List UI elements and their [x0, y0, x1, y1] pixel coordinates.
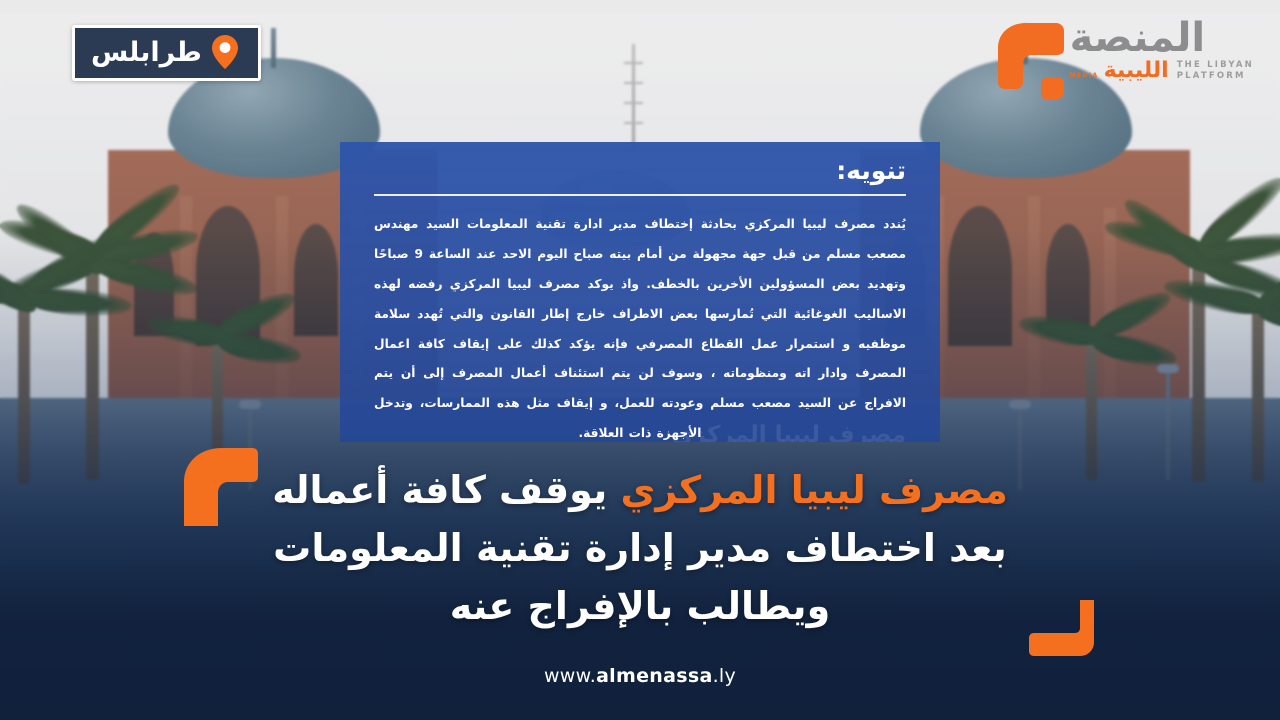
headline-line-2: بعد اختطاف مدير إدارة تقنية المعلومات	[0, 520, 1280, 578]
headline-line-1: مصرف ليبيا المركزي يوقف كافة أعماله	[0, 462, 1280, 520]
logo-latin-text: THE LIBYAN PLATFORM	[1177, 60, 1254, 81]
logo-arabic-sub-tag: MEDIA	[1070, 72, 1099, 79]
logo-latin-line1: THE LIBYAN	[1177, 60, 1254, 71]
statement-body: يُندد مصرف ليبيا المركزي بحادثة إختطاف م…	[374, 210, 906, 442]
statement-divider	[374, 194, 906, 196]
location-label: طرابلس	[91, 39, 202, 66]
statement-card: تنويه: يُندد مصرف ليبيا المركزي بحادثة إ…	[340, 142, 940, 442]
website-url[interactable]: www.almenassa.ly	[0, 665, 1280, 687]
site-logo[interactable]: المنصة THE LIBYAN PLATFORM الليبية MEDIA	[990, 18, 1254, 104]
location-badge[interactable]: طرابلس	[72, 25, 261, 81]
url-prefix: www.	[544, 665, 596, 687]
logo-text-group: المنصة THE LIBYAN PLATFORM الليبية MEDIA	[1070, 18, 1254, 82]
logo-arabic-main: المنصة	[1070, 18, 1206, 58]
logo-second-row: THE LIBYAN PLATFORM الليبية MEDIA	[1070, 60, 1254, 82]
logo-mark-icon	[990, 22, 1064, 104]
headline-block: مصرف ليبيا المركزي يوقف كافة أعماله بعد …	[0, 462, 1280, 635]
top-light-band	[0, 0, 1280, 14]
news-graphic-canvas: طرابلس المنصة THE LIBYAN PLATFORM الليبي…	[0, 0, 1280, 720]
url-suffix: .ly	[713, 665, 736, 687]
logo-latin-line2: PLATFORM	[1177, 71, 1254, 82]
map-pin-icon	[212, 35, 238, 69]
headline-accent-text: مصرف ليبيا المركزي	[621, 468, 1008, 512]
headline-line-3: ويطالب بالإفراج عنه	[0, 578, 1280, 636]
headline-line1-rest: يوقف كافة أعماله	[272, 468, 620, 512]
statement-title: تنويه:	[374, 156, 906, 186]
logo-arabic-sub-group: الليبية MEDIA	[1070, 60, 1169, 82]
logo-arabic-sub: الليبية	[1104, 58, 1169, 83]
url-name: almenassa	[596, 665, 713, 687]
